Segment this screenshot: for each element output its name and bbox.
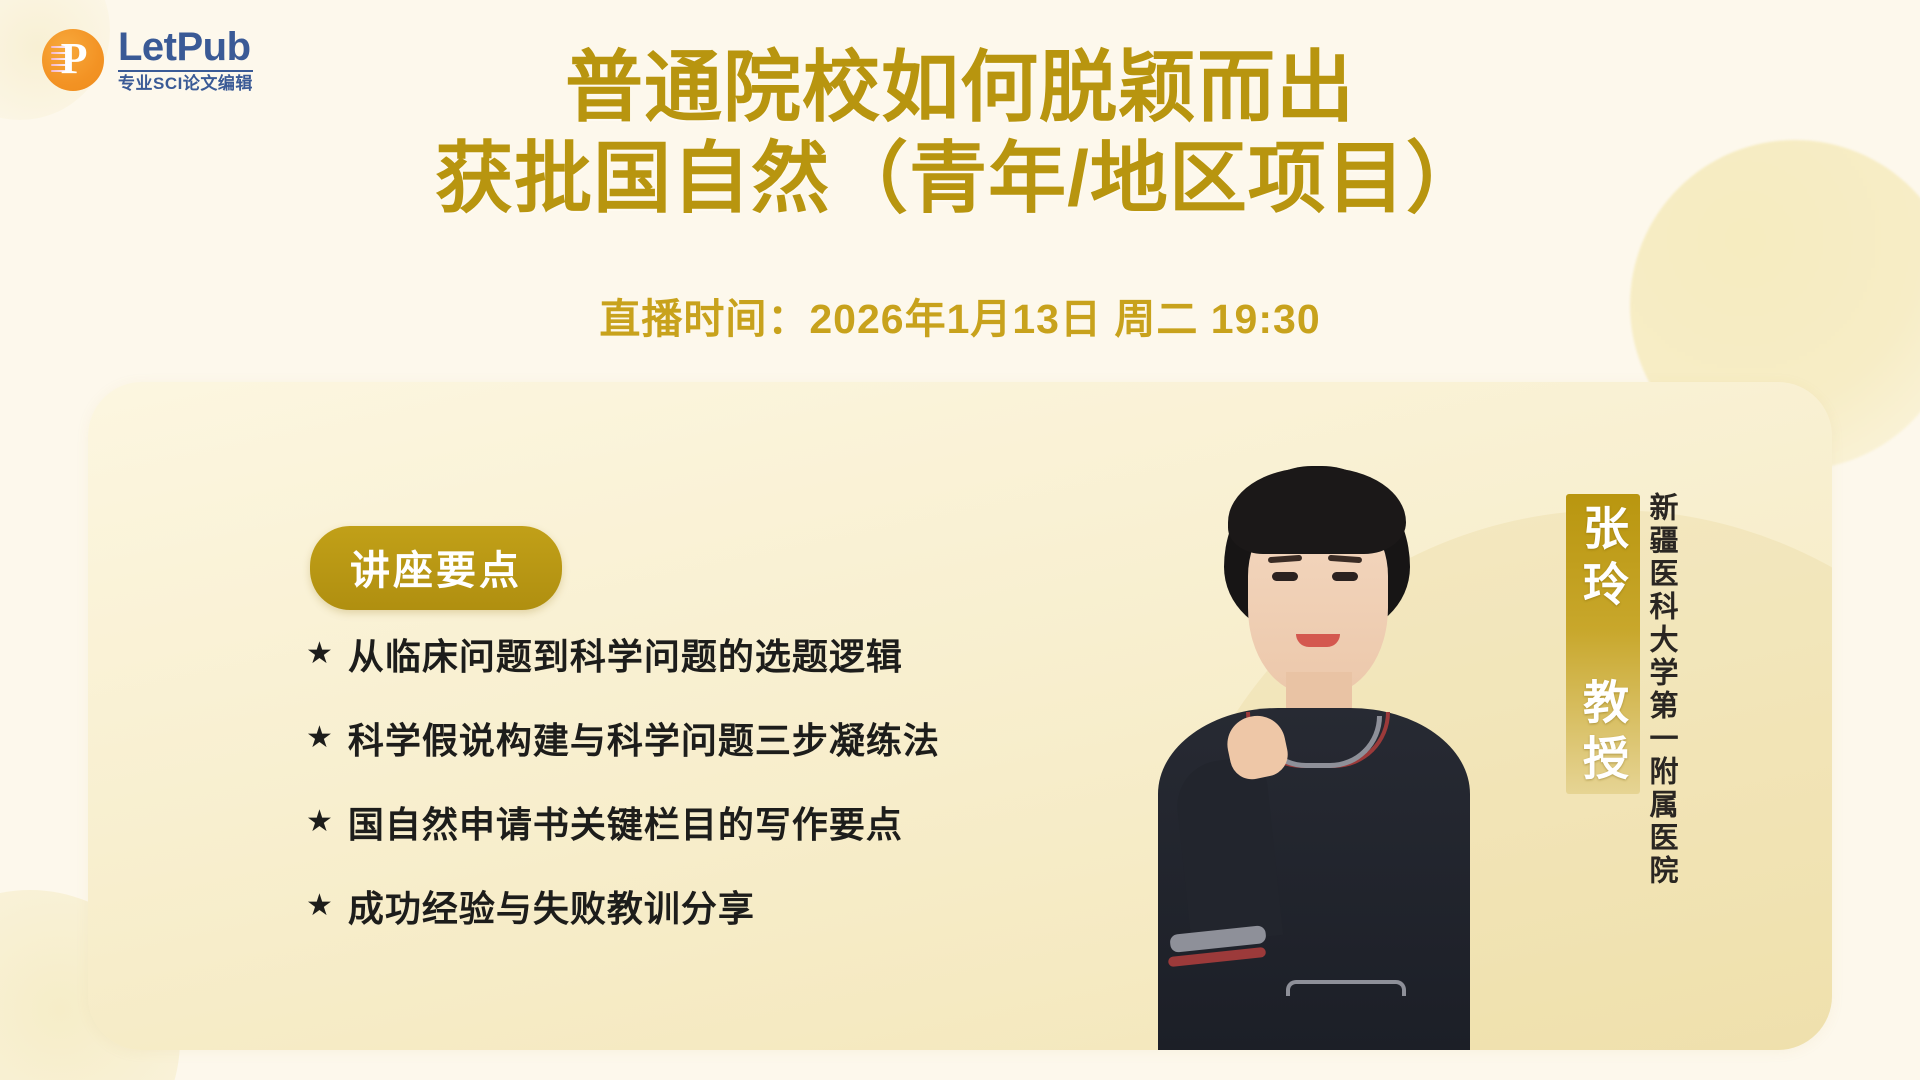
portrait-eye-left bbox=[1272, 572, 1298, 581]
list-item-label: 科学假说构建与科学问题三步凝练法 bbox=[348, 712, 940, 764]
portrait-pocket-trim bbox=[1286, 980, 1406, 996]
portrait-arm bbox=[1173, 756, 1283, 945]
speaker-name-ribbon: 张玲 教授 bbox=[1566, 494, 1640, 794]
list-item: ★ 从临床问题到科学问题的选题逻辑 bbox=[306, 628, 940, 680]
list-item: ★ 成功经验与失败教训分享 bbox=[306, 880, 940, 932]
lecture-points-badge: 讲座要点 bbox=[310, 526, 562, 610]
list-item: ★ 国自然申请书关键栏目的写作要点 bbox=[306, 796, 940, 848]
list-item-label: 成功经验与失败教训分享 bbox=[348, 880, 755, 932]
portrait-mouth bbox=[1296, 634, 1340, 647]
speaker-affiliation-label: 新疆医科大学第一附属医院 bbox=[1646, 492, 1675, 888]
star-icon: ★ bbox=[306, 639, 334, 669]
headline-line-2: 获批国自然（青年/地区项目） bbox=[0, 135, 1920, 222]
list-item-label: 从临床问题到科学问题的选题逻辑 bbox=[348, 628, 903, 680]
portrait-fringe bbox=[1228, 468, 1406, 554]
speaker-name-label: 张玲 教授 bbox=[1580, 504, 1626, 790]
headline-line-1: 普通院校如何脱颖而出 bbox=[0, 44, 1920, 131]
star-icon: ★ bbox=[306, 723, 334, 753]
schedule-text: 直播时间：2026年1月13日 周二 19:30 bbox=[0, 285, 1920, 345]
list-item: ★ 科学假说构建与科学问题三步凝练法 bbox=[306, 712, 940, 764]
star-icon: ★ bbox=[306, 807, 334, 837]
webinar-banner: P LetPub 专业SCI论文编辑 普通院校如何脱颖而出 获批国自然（青年/地… bbox=[0, 0, 1920, 1080]
list-item-label: 国自然申请书关键栏目的写作要点 bbox=[348, 796, 903, 848]
speaker-portrait bbox=[1136, 460, 1486, 1050]
content-card: 讲座要点 ★ 从临床问题到科学问题的选题逻辑 ★ 科学假说构建与科学问题三步凝练… bbox=[88, 382, 1832, 1050]
star-icon: ★ bbox=[306, 891, 334, 921]
portrait-eye-right bbox=[1332, 572, 1358, 581]
headline-block: 普通院校如何脱颖而出 获批国自然（青年/地区项目） bbox=[0, 44, 1920, 223]
lecture-points-list: ★ 从临床问题到科学问题的选题逻辑 ★ 科学假说构建与科学问题三步凝练法 ★ 国… bbox=[306, 628, 940, 932]
